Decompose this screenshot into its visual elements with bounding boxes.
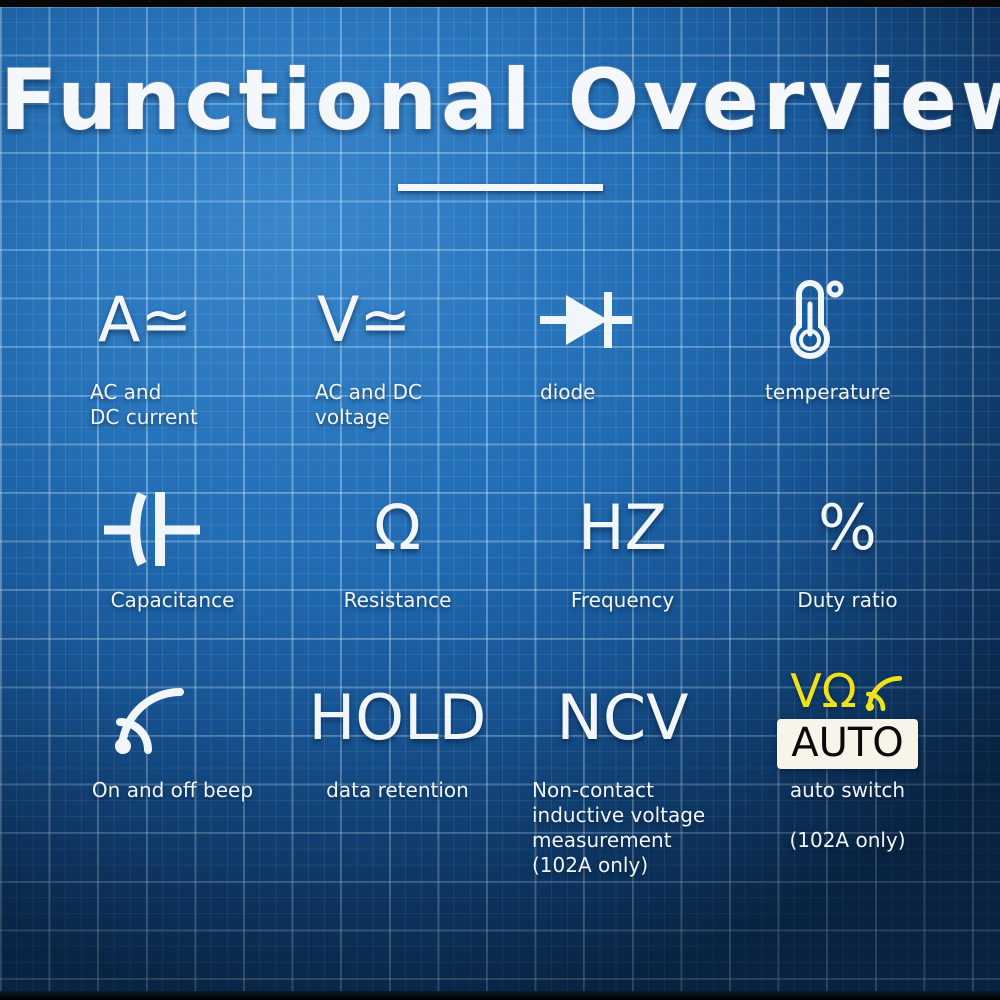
header: Functional Overview: [0, 52, 1000, 191]
signal-arc-icon: [861, 670, 905, 714]
ac-dc-voltage-icon: V≃: [289, 272, 506, 368]
ac-dc-voltage-symbol: V≃: [317, 289, 411, 351]
feature-diode: diode: [510, 272, 735, 480]
feature-ncv: NCV Non-contact inductive voltage measur…: [510, 670, 735, 878]
hertz-icon: HZ: [514, 480, 731, 576]
auto-switch-stack: VΩ AUTO: [777, 668, 918, 769]
feature-caption: diode: [514, 380, 731, 405]
diode-icon: [514, 272, 731, 368]
percent-symbol: %: [818, 497, 877, 559]
feature-temperature: temperature: [735, 272, 960, 480]
feature-caption: Duty ratio: [739, 588, 956, 613]
ohm-icon: Ω: [289, 480, 506, 576]
auto-badge: AUTO: [777, 719, 918, 769]
feature-caption: Capacitance: [64, 588, 281, 613]
feature-ac-dc-voltage: V≃ AC and DC voltage: [285, 272, 510, 480]
feature-frequency: HZ Frequency: [510, 480, 735, 670]
feature-grid: A≃ AC and DC current V≃ AC and DC voltag…: [60, 272, 960, 878]
ac-dc-current-symbol: A≃: [98, 289, 192, 351]
page-title: Functional Overview: [0, 52, 1000, 148]
hold-icon: HOLD: [289, 670, 506, 766]
top-black-band: [0, 0, 1000, 7]
hertz-symbol: HZ: [578, 497, 667, 559]
capacitor-icon: [64, 480, 281, 576]
bottom-black-band: [0, 991, 1000, 1000]
poster-canvas: Functional Overview A≃ AC and DC current…: [0, 0, 1000, 1000]
title-divider: [398, 184, 603, 191]
feature-caption: data retention: [289, 778, 506, 803]
feature-auto-switch: VΩ AUTO auto switch (102A o: [735, 670, 960, 878]
feature-caption: Non-contact inductive voltage measuremen…: [514, 778, 731, 878]
feature-ac-dc-current: A≃ AC and DC current: [60, 272, 285, 480]
feature-data-retention: HOLD data retention: [285, 670, 510, 878]
feature-caption: auto switch (102A only): [739, 778, 956, 853]
feature-caption: AC and DC voltage: [289, 380, 506, 430]
ac-dc-current-icon: A≃: [64, 272, 281, 368]
ncv-symbol: NCV: [556, 687, 688, 749]
ohm-symbol: Ω: [374, 497, 421, 559]
auto-switch-symbol-row: VΩ: [790, 668, 905, 714]
feature-duty-ratio: % Duty ratio: [735, 480, 960, 670]
feature-caption: Resistance: [289, 588, 506, 613]
beep-signal-icon: [64, 670, 281, 766]
feature-caption: AC and DC current: [64, 380, 281, 430]
feature-caption: On and off beep: [64, 778, 281, 803]
feature-capacitance: Capacitance: [60, 480, 285, 670]
feature-caption: Frequency: [514, 588, 731, 613]
feature-beep: On and off beep: [60, 670, 285, 878]
feature-caption: temperature: [739, 380, 956, 405]
auto-badge-label: AUTO: [791, 720, 904, 766]
feature-resistance: Ω Resistance: [285, 480, 510, 670]
hold-symbol: HOLD: [309, 687, 487, 749]
thermometer-icon: [739, 272, 956, 368]
ncv-icon: NCV: [514, 670, 731, 766]
auto-switch-icon: VΩ AUTO: [739, 670, 956, 766]
volt-ohm-symbol: VΩ: [790, 668, 857, 714]
percent-icon: %: [739, 480, 956, 576]
